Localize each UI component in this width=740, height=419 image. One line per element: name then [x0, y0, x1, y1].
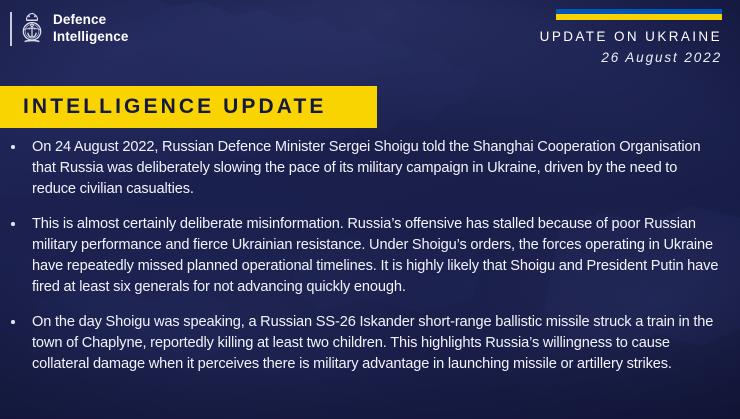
brand-divider [10, 12, 12, 46]
list-item-text: On 24 August 2022, Russian Defence Minis… [32, 137, 722, 200]
list-item-text: On the day Shoigu was speaking, a Russia… [32, 312, 722, 375]
brand-name-line2: Intelligence [53, 29, 128, 46]
brand-name-line1: Defence [53, 12, 128, 29]
update-date: 26 August 2022 [601, 50, 722, 65]
ukraine-flag-bar [556, 9, 722, 20]
page-title: INTELLIGENCE UPDATE [0, 95, 327, 119]
flag-yellow-stripe [556, 14, 722, 20]
brand-name: Defence Intelligence [53, 11, 128, 45]
update-on-ukraine-label: UPDATE ON UKRAINE [540, 29, 722, 44]
bullet-dot-icon [11, 320, 15, 324]
list-item: This is almost certainly deliberate misi… [0, 214, 740, 298]
list-item: On 24 August 2022, Russian Defence Minis… [0, 137, 740, 200]
royal-crest-icon [19, 11, 45, 45]
intelligence-update-banner: INTELLIGENCE UPDATE [0, 86, 377, 128]
bullet-list: On 24 August 2022, Russian Defence Minis… [0, 137, 740, 389]
list-item-text: This is almost certainly deliberate misi… [32, 214, 722, 298]
list-item: On the day Shoigu was speaking, a Russia… [0, 312, 740, 375]
intelligence-update-page: Defence Intelligence UPDATE ON UKRAINE 2… [0, 0, 740, 419]
bullet-dot-icon [11, 145, 15, 149]
brand-lockup: Defence Intelligence [10, 11, 128, 46]
page-header: Defence Intelligence UPDATE ON UKRAINE 2… [0, 0, 740, 84]
bullet-dot-icon [11, 222, 15, 226]
